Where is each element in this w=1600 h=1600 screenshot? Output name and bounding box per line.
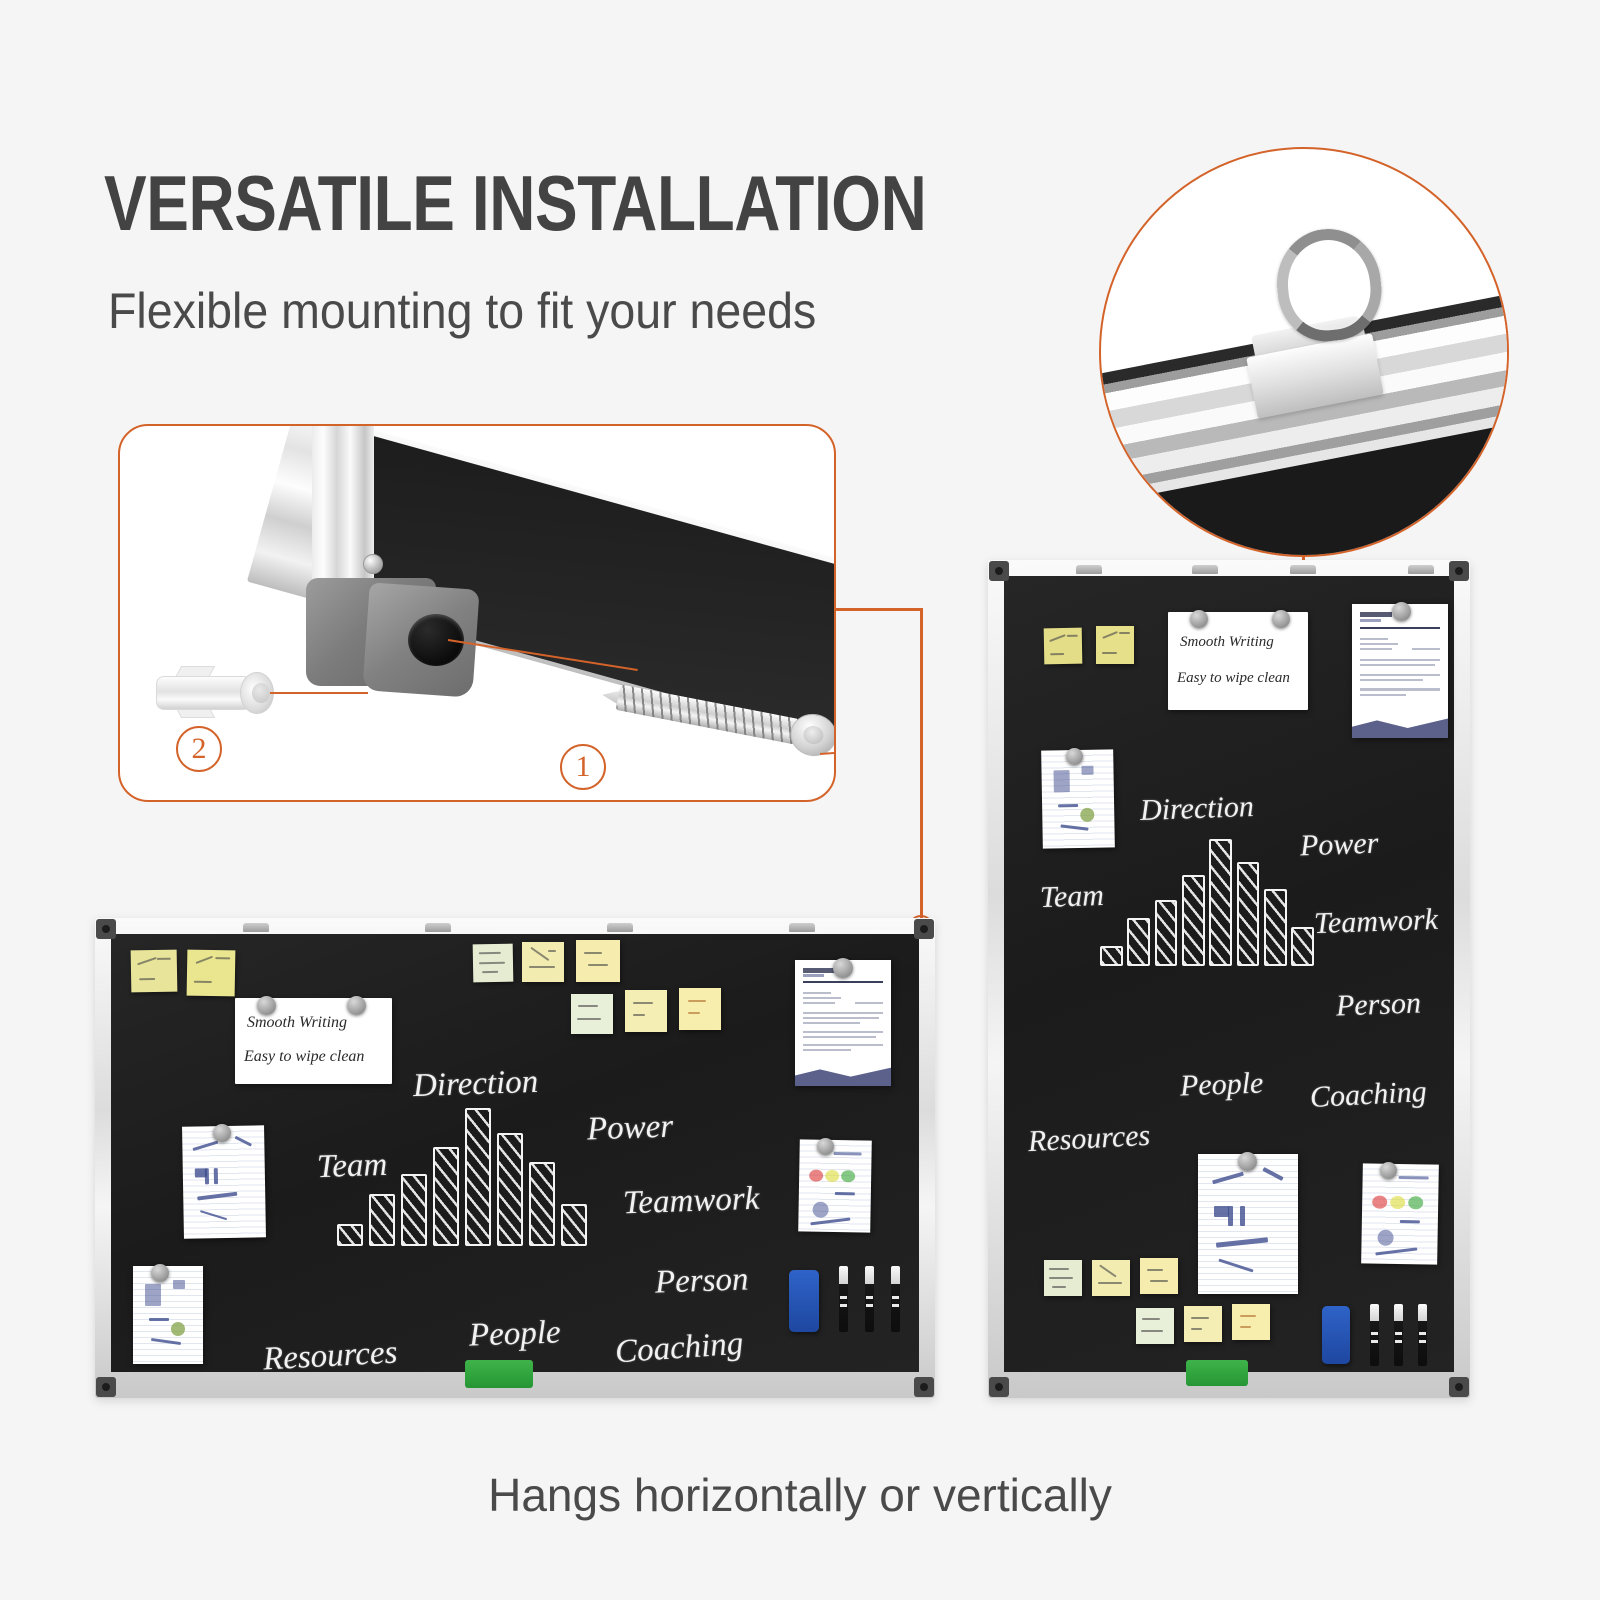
marker[interactable]: [891, 1266, 900, 1332]
lined-note-colors[interactable]: [1361, 1163, 1439, 1264]
chalk-word-coaching: Coaching: [1309, 1075, 1427, 1115]
blue-eraser[interactable]: [789, 1270, 819, 1332]
chalk-word-teamwork: Teamwork: [1313, 903, 1438, 941]
page-headline: VERSATILE INSTALLATION: [104, 158, 926, 249]
page-caption: Hangs horizontally or vertically: [0, 1468, 1600, 1522]
marketing-page: VERSATILE INSTALLATION Flexible mounting…: [0, 0, 1600, 1600]
leader-line-anchor: [270, 692, 368, 694]
sticky-note[interactable]: [1232, 1304, 1270, 1340]
frame-screw-icon: [363, 554, 383, 574]
marker[interactable]: [865, 1266, 874, 1332]
chalk-word-direction: Direction: [1139, 790, 1254, 828]
part-badge-1: 1: [560, 744, 606, 790]
green-tray-eraser[interactable]: [1186, 1360, 1248, 1386]
chalk-word-power: Power: [586, 1109, 673, 1149]
sticky-note[interactable]: [1044, 1260, 1082, 1296]
wall-anchor-part: [156, 670, 274, 716]
chalk-word-people: People: [1179, 1067, 1263, 1104]
chalk-word-coaching: Coaching: [614, 1326, 745, 1372]
chalk-word-team: Team: [316, 1147, 388, 1186]
green-tray-eraser[interactable]: [465, 1360, 533, 1388]
dring-callout-circle: [1099, 147, 1509, 557]
sticky-note[interactable]: [1140, 1258, 1178, 1294]
magnet[interactable]: [1238, 1152, 1257, 1171]
connector-h2: [920, 608, 923, 920]
marker[interactable]: [1418, 1304, 1427, 1366]
chalk-word-person: Person: [654, 1261, 749, 1301]
page-subhead: Flexible mounting to fit your needs: [108, 282, 816, 340]
lined-note-doodle[interactable]: [1198, 1154, 1298, 1294]
anchor-body: [156, 676, 248, 710]
chalk-word-resources: Resources: [1027, 1119, 1151, 1159]
sticky-note[interactable]: [1136, 1308, 1174, 1344]
vertical-board[interactable]: Smooth Writing Easy to wipe clean: [988, 560, 1470, 1398]
horizontal-board[interactable]: Smooth Writing Easy to wipe clean: [95, 918, 935, 1398]
magnet[interactable]: [1380, 1162, 1397, 1179]
sticky-note[interactable]: [1184, 1306, 1222, 1342]
chalk-word-teamwork: Teamwork: [622, 1181, 760, 1223]
marker[interactable]: [1394, 1304, 1403, 1366]
marker[interactable]: [1370, 1304, 1379, 1366]
part-badge-2: 2: [176, 726, 222, 772]
sticky-note[interactable]: [1092, 1260, 1130, 1296]
chalk-word-power: Power: [1299, 827, 1378, 864]
chalk-word-direction: Direction: [412, 1064, 538, 1105]
chalk-word-team: Team: [1039, 879, 1104, 915]
anchor-bore: [252, 683, 270, 703]
chalk-word-resources: Resources: [262, 1335, 398, 1379]
chalk-word-people: People: [468, 1314, 561, 1354]
blue-eraser[interactable]: [1322, 1306, 1350, 1364]
hardware-callout-panel: 2 1 3: [118, 424, 836, 802]
chalk-word-person: Person: [1335, 987, 1421, 1024]
marker[interactable]: [839, 1266, 848, 1332]
connector-h1: [836, 608, 922, 611]
